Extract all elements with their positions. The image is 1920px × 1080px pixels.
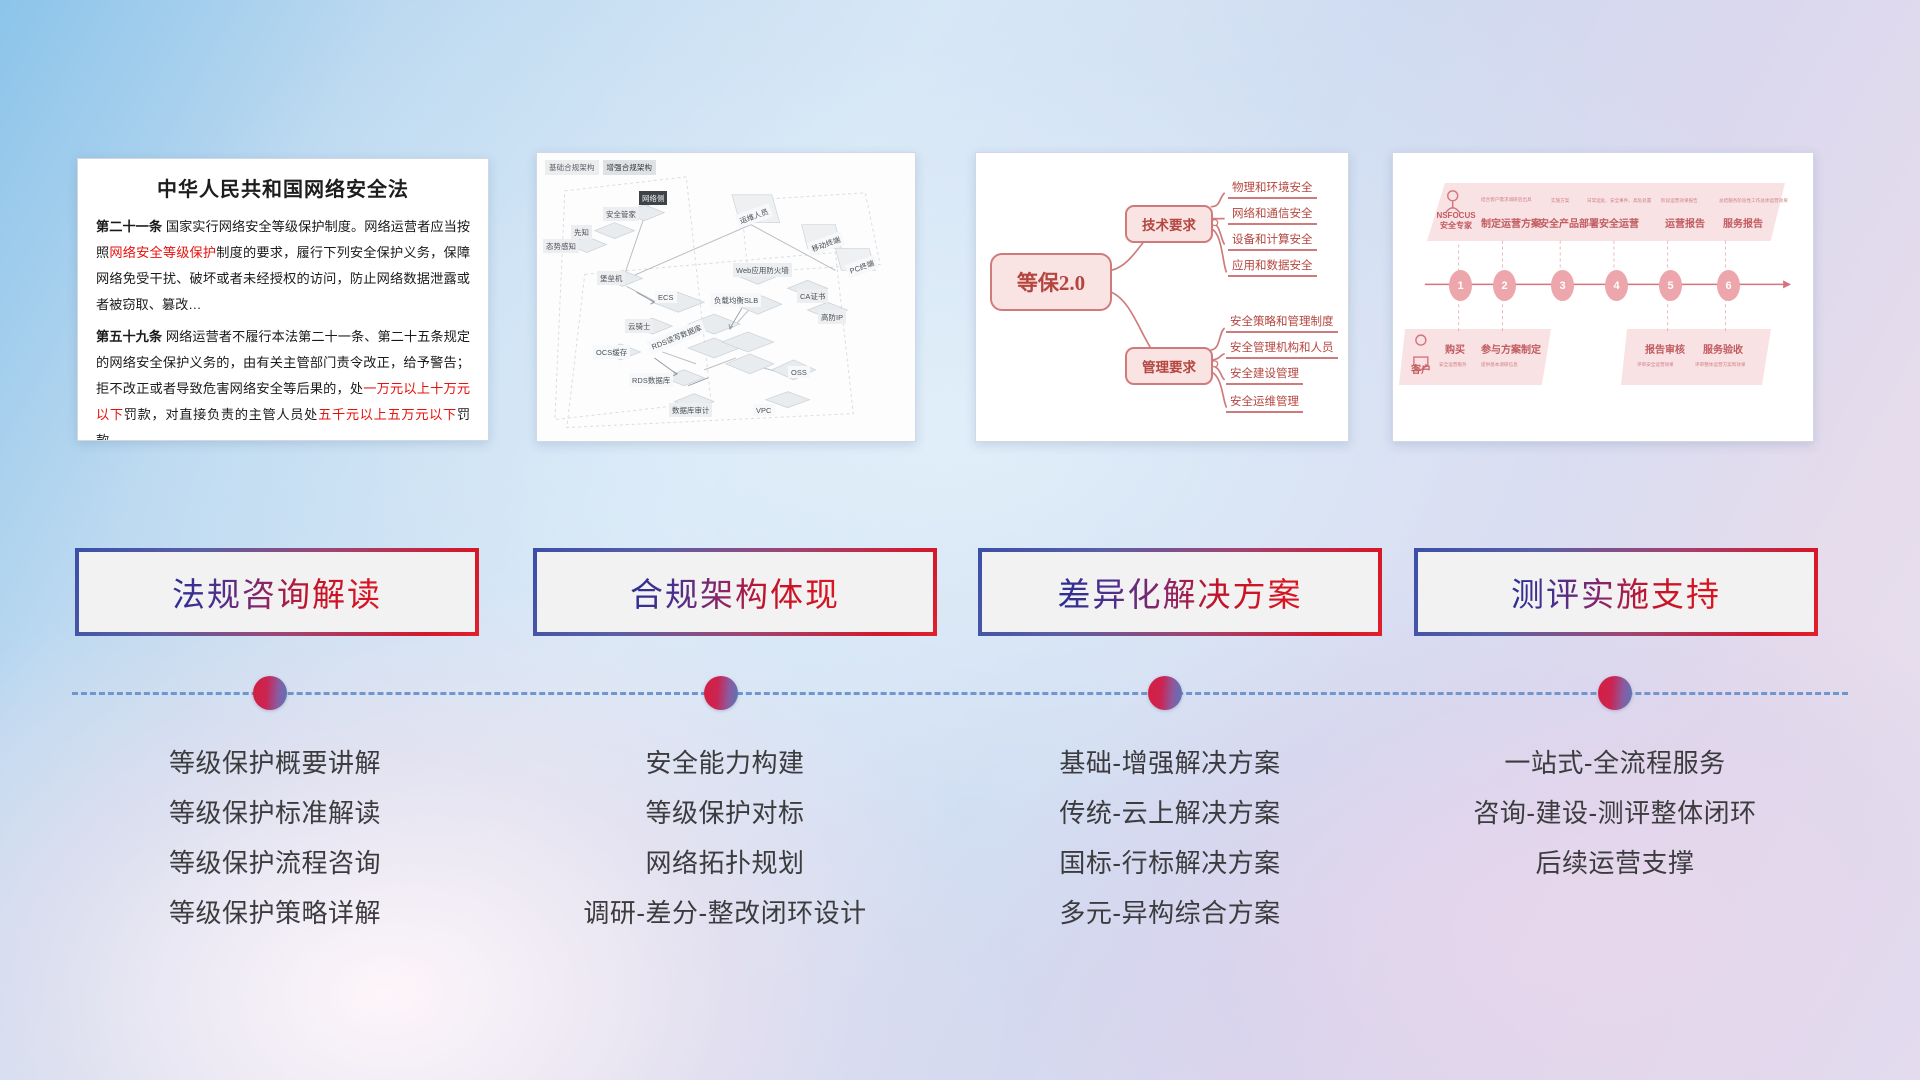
arch-node-label: 安全管家 <box>603 207 639 221</box>
law-paragraph: 第五十九条 网络运营者不履行本法第二十一条、第二十五条规定的网络安全保护义务的，… <box>96 324 470 441</box>
law-title: 中华人民共和国网络安全法 <box>96 173 470 202</box>
mindmap-leaf: 安全策略和管理制度 <box>1226 313 1338 333</box>
headline-label: 法规咨询解读 <box>172 568 382 616</box>
timeline-top-main: 服务报告 <box>1723 215 1763 230</box>
timeline-dot-1[interactable] <box>253 676 287 710</box>
arch-node-label: 网络侧 <box>639 191 667 205</box>
mindmap-leaf: 网络和通信安全 <box>1228 205 1317 225</box>
arch-node-label: 先知 <box>571 225 592 239</box>
timeline-top-main: 运营报告 <box>1665 215 1705 230</box>
mindmap-card[interactable]: 等保2.0 技术要求 物理和环境安全 网络和通信安全 设备和计算安全 应用和数据… <box>975 152 1349 442</box>
arch-node-label: 堡垒机 <box>597 271 625 285</box>
timeline-bottom-main: 报告审核 <box>1645 341 1685 356</box>
mindmap-leaf: 安全管理机构和人员 <box>1226 339 1338 359</box>
headline-box-compliance-architecture[interactable]: 合规架构体现 <box>533 548 937 636</box>
nsfocus-timeline-diagram: 1 2 3 4 5 6 NSFOCUS 安全专家 客户 结合客户需求调研后出具 … <box>1393 153 1813 441</box>
connector-timeline <box>0 660 1920 720</box>
list-item: 调研-差分-整改闭环设计 <box>515 888 935 938</box>
customer-role-label: 客户 <box>1411 361 1431 376</box>
timeline-bottom-sub: 评审整体运营方案和效果 <box>1695 362 1746 368</box>
timeline-bottom-sub: 提供基本调研信息 <box>1481 362 1518 368</box>
arch-node-label: 云骑士 <box>625 319 653 333</box>
list-item: 多元-异构综合方案 <box>960 888 1380 938</box>
mindmap-leaf: 安全运维管理 <box>1226 393 1303 413</box>
timeline-top-main: 安全产品部署 <box>1539 215 1599 230</box>
headline-box-assessment-support[interactable]: 测评实施支持 <box>1414 548 1818 636</box>
timeline-bottom-sub: 安全运营服务 <box>1439 362 1467 368</box>
list-item: 一站式-全流程服务 <box>1405 738 1825 788</box>
nsfocus-brand-line-2: 安全专家 <box>1431 221 1481 231</box>
mindmap-root-node[interactable]: 等保2.0 <box>990 253 1112 311</box>
list-item: 基础-增强解决方案 <box>960 738 1380 788</box>
arch-node-label: VPC <box>753 404 775 416</box>
law-paragraph: 第二十一条 国家实行网络安全等级保护制度。网络运营者应当按照网络安全等级保护制度… <box>96 214 470 318</box>
list-item: 等级保护流程咨询 <box>65 838 485 888</box>
timeline-step-marker[interactable]: 5 <box>1659 270 1682 301</box>
architecture-diagram: 基础合规架构 增强合规架构 <box>537 153 915 441</box>
preview-card-row: 中华人民共和国网络安全法 第二十一条 国家实行网络安全等级保护制度。网络运营者应… <box>0 152 1920 442</box>
arch-node-label: 高防IP <box>818 310 846 324</box>
arch-node-label: 态势感知 <box>543 239 579 253</box>
law-article-label: 第五十九条 <box>96 329 162 344</box>
detail-column-row: 等级保护概要讲解 等级保护标准解读 等级保护流程咨询 等级保护策略详解 安全能力… <box>0 738 1920 958</box>
detail-column-assessment-support: 一站式-全流程服务 咨询-建设-测评整体闭环 后续运营支撑 <box>1405 738 1825 888</box>
mindmap-leaf: 设备和计算安全 <box>1228 231 1317 251</box>
law-article-label: 第二十一条 <box>96 219 162 234</box>
timeline-step-marker[interactable]: 3 <box>1551 270 1574 301</box>
law-body: 中华人民共和国网络安全法 第二十一条 国家实行网络安全等级保护制度。网络运营者应… <box>78 159 488 441</box>
mindmap-leaf: 应用和数据安全 <box>1228 257 1317 277</box>
arch-node-label: 负载均衡SLB <box>711 293 761 307</box>
detail-column-differentiated-solution: 基础-增强解决方案 传统-云上解决方案 国标-行标解决方案 多元-异构综合方案 <box>960 738 1380 938</box>
headline-label: 差异化解决方案 <box>1058 568 1303 616</box>
timeline-bottom-main: 购买 <box>1445 341 1465 356</box>
headline-box-regulation-consulting[interactable]: 法规咨询解读 <box>75 548 479 636</box>
timeline-top-main: 安全运营 <box>1599 215 1639 230</box>
dashed-timeline-line <box>72 692 1848 695</box>
timeline-step-marker[interactable]: 2 <box>1493 270 1516 301</box>
mindmap-branch-technical[interactable]: 技术要求 <box>1125 205 1213 243</box>
arch-node-label: ECS <box>655 291 677 303</box>
arch-node-label: RDS数据库 <box>629 373 673 387</box>
mindmap-branch-management[interactable]: 管理要求 <box>1125 347 1213 385</box>
nsfocus-brand-line-1: NSFOCUS <box>1431 211 1481 221</box>
detail-column-regulation-consulting: 等级保护概要讲解 等级保护标准解读 等级保护流程咨询 等级保护策略详解 <box>65 738 485 938</box>
arch-node-label: OSS <box>788 366 810 378</box>
cloud-architecture-card[interactable]: 基础合规架构 增强合规架构 <box>536 152 916 442</box>
headline-row: 法规咨询解读 合规架构体现 差异化解决方案 测评实施支持 <box>0 548 1920 644</box>
timeline-dot-4[interactable] <box>1598 676 1632 710</box>
mindmap-leaf: 物理和环境安全 <box>1228 179 1317 199</box>
timeline-step-marker[interactable]: 4 <box>1605 270 1628 301</box>
list-item: 安全能力构建 <box>515 738 935 788</box>
timeline-top-sub: 结合客户需求调研后出具 <box>1481 197 1532 203</box>
list-item: 传统-云上解决方案 <box>960 788 1380 838</box>
law-text-card[interactable]: 中华人民共和国网络安全法 第二十一条 国家实行网络安全等级保护制度。网络运营者应… <box>77 158 489 441</box>
detail-column-compliance-architecture: 安全能力构建 等级保护对标 网络拓扑规划 调研-差分-整改闭环设计 <box>515 738 935 938</box>
headline-label: 合规架构体现 <box>630 568 840 616</box>
service-timeline-card[interactable]: 1 2 3 4 5 6 NSFOCUS 安全专家 客户 结合客户需求调研后出具 … <box>1392 152 1814 442</box>
list-item: 等级保护概要讲解 <box>65 738 485 788</box>
timeline-top-sub: 日常运处、安全事件、高危处置 <box>1587 198 1651 204</box>
timeline-dot-2[interactable] <box>704 676 738 710</box>
slide-canvas: 中华人民共和国网络安全法 第二十一条 国家实行网络安全等级保护制度。网络运营者应… <box>0 0 1920 1080</box>
nsfocus-brand-label: NSFOCUS 安全专家 <box>1431 211 1481 231</box>
timeline-top-sub: 阶段运营效果报告 <box>1661 198 1698 204</box>
list-item: 等级保护标准解读 <box>65 788 485 838</box>
law-highlight-segment: 网络安全等级保护 <box>109 245 216 260</box>
timeline-top-sub: 总结服务阶段性工作总体运营效果 <box>1719 198 1788 204</box>
timeline-bottom-sub: 评审安全运营效果 <box>1637 362 1674 368</box>
mindmap-diagram: 等保2.0 技术要求 物理和环境安全 网络和通信安全 设备和计算安全 应用和数据… <box>976 153 1348 441</box>
arch-node-label: 数据库审计 <box>669 403 712 417</box>
timeline-step-marker[interactable]: 6 <box>1717 270 1740 301</box>
list-item: 后续运营支撑 <box>1405 838 1825 888</box>
headline-label: 测评实施支持 <box>1511 568 1721 616</box>
law-text-segment: 罚款，对直接负责的主管人员处 <box>124 407 318 422</box>
timeline-bottom-main: 服务验收 <box>1703 341 1743 356</box>
timeline-top-sub: 实施方案 <box>1551 198 1569 204</box>
list-item: 等级保护策略详解 <box>65 888 485 938</box>
list-item: 等级保护对标 <box>515 788 935 838</box>
law-highlight-segment: 五千元以上五万元以下 <box>318 407 457 422</box>
arch-node-label: CA证书 <box>797 289 828 303</box>
arch-node-label: OCS缓存 <box>593 345 630 359</box>
mindmap-leaf: 安全建设管理 <box>1226 365 1303 385</box>
timeline-dot-3[interactable] <box>1148 676 1182 710</box>
list-item: 网络拓扑规划 <box>515 838 935 888</box>
timeline-bottom-main: 参与方案制定 <box>1481 341 1541 356</box>
list-item: 咨询-建设-测评整体闭环 <box>1405 788 1825 838</box>
headline-box-differentiated-solution[interactable]: 差异化解决方案 <box>978 548 1382 636</box>
list-item: 国标-行标解决方案 <box>960 838 1380 888</box>
timeline-step-marker[interactable]: 1 <box>1449 270 1472 301</box>
timeline-top-main: 制定运营方案 <box>1481 215 1541 230</box>
arch-node-label: Web应用防火墙 <box>733 263 792 277</box>
